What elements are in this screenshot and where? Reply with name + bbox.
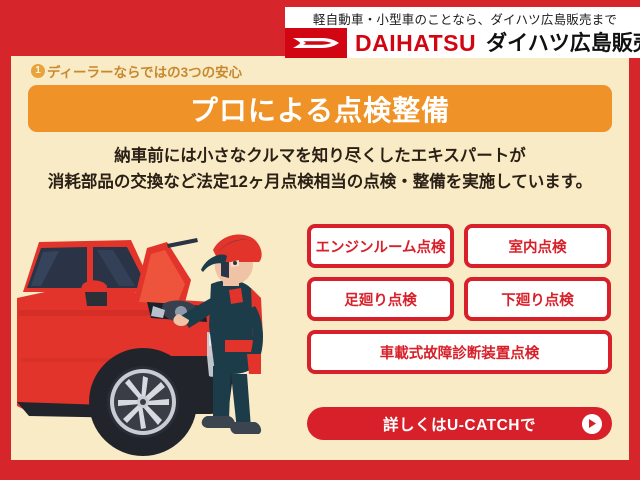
description-line-1: 納車前には小さなクルマを知り尽くしたエキスパートが xyxy=(11,143,629,169)
check-item-obd-diagnostics[interactable]: 車載式故障診断装置点検 xyxy=(307,330,612,374)
check-item-interior[interactable]: 室内点検 xyxy=(464,224,611,268)
play-arrow-icon xyxy=(582,414,602,434)
checklist-row-1: エンジンルーム点検 室内点検 xyxy=(307,224,612,268)
check-item-underbody[interactable]: 下廻り点検 xyxy=(464,277,611,321)
inspection-checklist: エンジンルーム点検 室内点検 足廻り点検 下廻り点検 車載式故障診断装置点検 xyxy=(307,224,612,383)
section-label: 1 ディーラーならではの3つの安心 xyxy=(31,61,242,81)
description-line-2: 消耗部品の交換など法定12ヶ月点検相当の点検・整備を実施しています。 xyxy=(11,169,629,195)
section-number-badge: 1 xyxy=(31,64,45,78)
header-plate: 軽自動車・小型車のことなら、ダイハツ広島販売まで DAIHATSU ダイハツ広島… xyxy=(285,7,640,58)
page-title: プロによる点検整備 xyxy=(190,89,450,129)
cta-label: 詳しくはU-CATCHで xyxy=(383,413,536,435)
daihatsu-d-mark-icon xyxy=(285,28,347,58)
mechanic-car-illustration xyxy=(15,206,315,456)
brand-wordmark: DAIHATSU xyxy=(355,32,476,55)
ad-banner-screen: 軽自動車・小型車のことなら、ダイハツ広島販売まで DAIHATSU ダイハツ広島… xyxy=(0,0,640,480)
checklist-row-2: 足廻り点検 下廻り点検 xyxy=(307,277,612,321)
section-title-banner: プロによる点検整備 xyxy=(28,85,612,132)
dealer-name: ダイハツ広島販売 xyxy=(486,33,640,54)
header-tagline: 軽自動車・小型車のことなら、ダイハツ広島販売まで xyxy=(295,8,635,28)
content-panel: 1 ディーラーならではの3つの安心 プロによる点検整備 納車前には小さなクルマを… xyxy=(11,56,629,460)
checklist-row-3: 車載式故障診断装置点検 xyxy=(307,330,612,374)
section-label-text: ディーラーならではの3つの安心 xyxy=(47,61,242,81)
header-logo-row: DAIHATSU ダイハツ広島販売 xyxy=(285,28,640,58)
cta-button[interactable]: 詳しくはU-CATCHで xyxy=(307,407,612,440)
check-item-suspension[interactable]: 足廻り点検 xyxy=(307,277,454,321)
description-block: 納車前には小さなクルマを知り尽くしたエキスパートが 消耗部品の交換など法定12ヶ… xyxy=(11,143,629,195)
check-item-engine-room[interactable]: エンジンルーム点検 xyxy=(307,224,454,268)
